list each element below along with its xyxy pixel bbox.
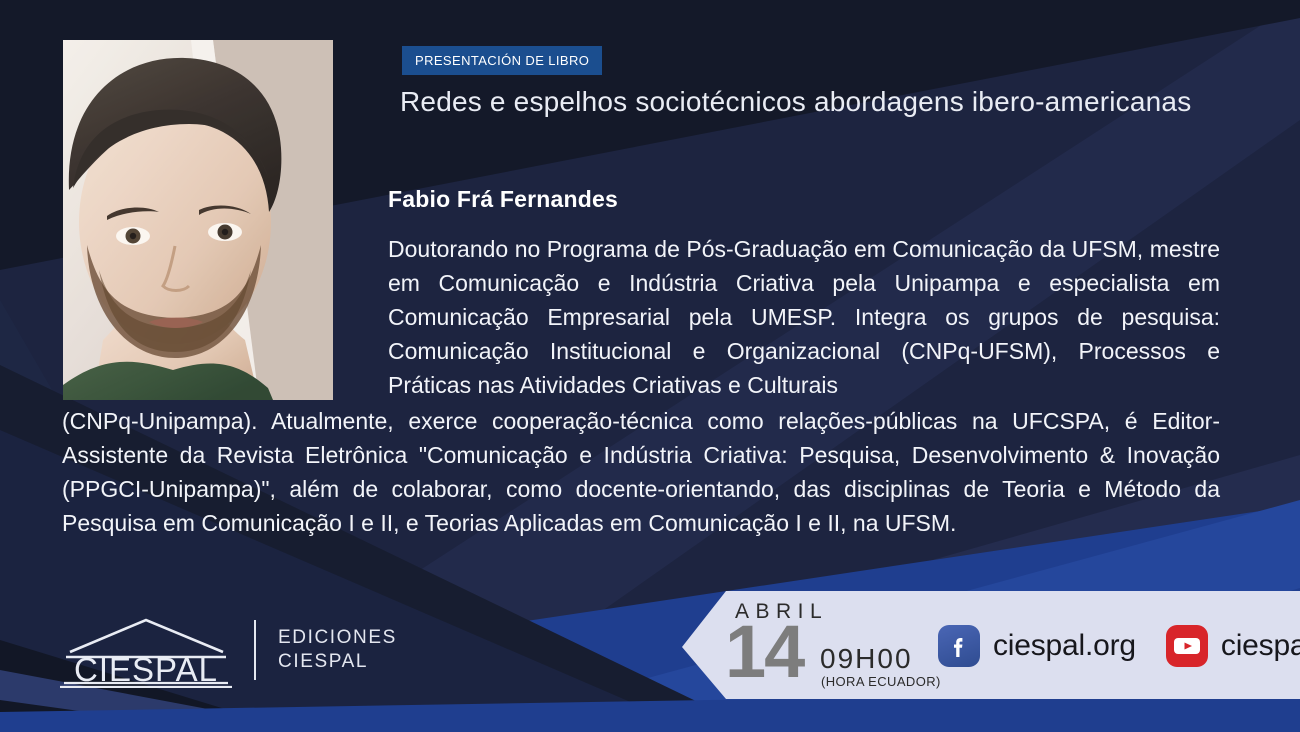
date-time: 09H00 xyxy=(820,643,913,675)
portrait-illustration xyxy=(63,40,333,400)
facebook-icon[interactable] xyxy=(938,625,980,667)
page-title: Redes e espelhos sociotécnicos abordagen… xyxy=(400,86,1280,118)
imprint-line-1: EDICIONES xyxy=(278,626,397,650)
logo-divider xyxy=(254,620,256,680)
date-day: 14 xyxy=(725,615,803,689)
facebook-handle[interactable]: ciespal.org xyxy=(993,629,1136,663)
event-poster: PRESENTACIÓN DE LIBRO Redes e espelhos s… xyxy=(0,0,1300,732)
youtube-icon[interactable] xyxy=(1166,625,1208,667)
date-timezone: (HORA ECUADOR) xyxy=(821,674,941,689)
tag-presentacion-de-libro: PRESENTACIÓN DE LIBRO xyxy=(402,46,602,75)
speaker-bio-part2: (CNPq-Unipampa). Atualmente, exerce coop… xyxy=(62,404,1220,540)
social-youtube[interactable]: ciespal xyxy=(1166,625,1300,667)
ciespal-logo-icon: CIESPAL xyxy=(60,612,232,688)
speaker-photo xyxy=(63,40,333,400)
speaker-name: Fabio Frá Fernandes xyxy=(388,186,618,213)
youtube-handle[interactable]: ciespal xyxy=(1221,629,1300,663)
ciespal-logo: CIESPAL EDICIONES CIESPAL xyxy=(60,612,397,688)
social-links: ciespal.org ciespal xyxy=(938,625,1300,667)
speaker-bio-part1: Doutorando no Programa de Pós-Graduação … xyxy=(388,232,1220,402)
social-facebook[interactable]: ciespal.org xyxy=(938,625,1136,667)
imprint-line-2: CIESPAL xyxy=(278,650,397,674)
imprint-label: EDICIONES CIESPAL xyxy=(278,626,397,674)
